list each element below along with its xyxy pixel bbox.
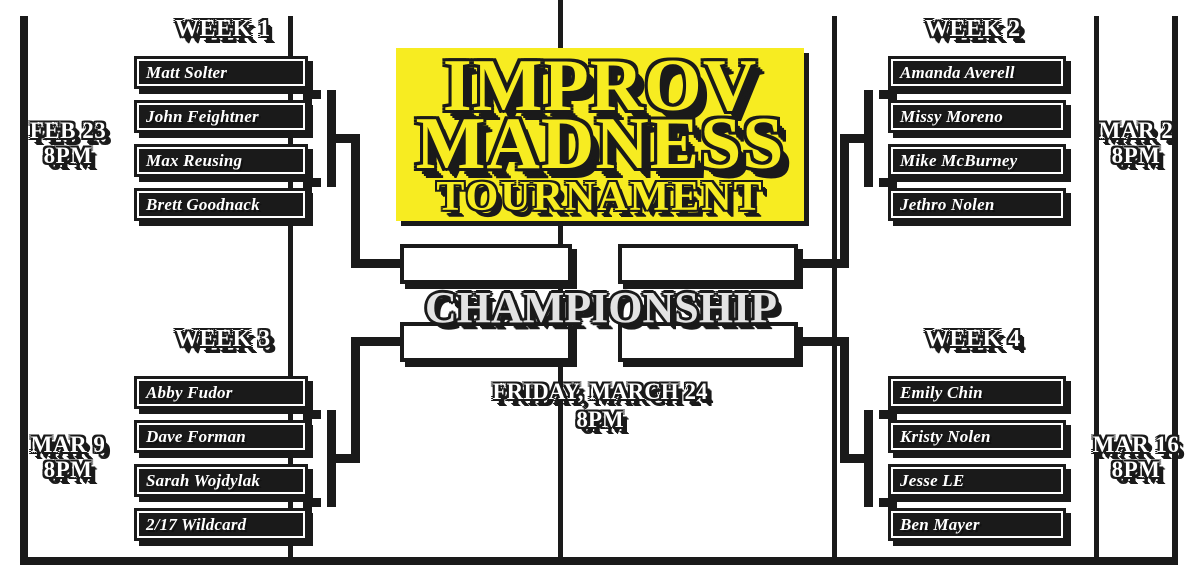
competitor-slot[interactable]: John Feightner <box>134 100 308 133</box>
competitor-slot[interactable]: Max Reusing <box>134 144 308 177</box>
competitor-name: Amanda Averell <box>900 63 1015 83</box>
competitor-slot[interactable]: Emily Chin <box>888 376 1066 409</box>
date-line-1: MAR 16 <box>1086 432 1186 457</box>
plate-inner: Mike McBurney <box>891 147 1063 174</box>
championship-date-line-2: 8PM <box>390 406 810 434</box>
competitor-slot[interactable]: Sarah Wojdylak <box>134 464 308 497</box>
date-label-feb23: FEB 23 8PM <box>18 118 118 168</box>
competitor-slot[interactable]: Matt Solter <box>134 56 308 89</box>
competitor-name: Mike McBurney <box>900 151 1017 171</box>
date-label-mar16: MAR 16 8PM <box>1086 432 1186 482</box>
plate-inner: Missy Moreno <box>891 103 1063 130</box>
competitor-name: John Feightner <box>146 107 259 127</box>
plate-inner: Emily Chin <box>891 379 1063 406</box>
semifinal-slot-top-right[interactable] <box>618 244 798 284</box>
competitor-slot[interactable]: Missy Moreno <box>888 100 1066 133</box>
competitor-name: Kristy Nolen <box>900 427 991 447</box>
poster-title-block: IMPROV MADNESS TOURNAMENT <box>396 48 804 221</box>
plate-inner: Jethro Nolen <box>891 191 1063 218</box>
competitor-name: Brett Goodnack <box>146 195 260 215</box>
slot-inner <box>404 248 568 280</box>
championship-date: FRIDAY, MARCH 24 8PM <box>390 378 810 434</box>
plate-inner: Max Reusing <box>137 147 305 174</box>
week-header-week1: WEEK 1 <box>175 16 271 43</box>
championship-label: CHAMPIONSHIP <box>396 282 806 333</box>
plate-inner: Brett Goodnack <box>137 191 305 218</box>
title-line-tournament: TOURNAMENT <box>396 173 804 221</box>
competitor-slot[interactable]: Mike McBurney <box>888 144 1066 177</box>
date-label-mar2: MAR 2 8PM <box>1086 118 1186 168</box>
competitor-slot[interactable]: Brett Goodnack <box>134 188 308 221</box>
competitor-slot[interactable]: Amanda Averell <box>888 56 1066 89</box>
plate-inner: Jesse LE <box>891 467 1063 494</box>
competitor-name: Emily Chin <box>900 383 983 403</box>
plate-inner: Matt Solter <box>137 59 305 86</box>
date-line-1: FEB 23 <box>18 118 118 143</box>
plate-inner: Ben Mayer <box>891 511 1063 538</box>
date-line-2: 8PM <box>18 143 118 168</box>
competitor-name: Matt Solter <box>146 63 227 83</box>
week-header-week4: WEEK 4 <box>925 326 1021 353</box>
plate-inner: Sarah Wojdylak <box>137 467 305 494</box>
date-line-2: 8PM <box>18 457 118 482</box>
date-line-1: MAR 2 <box>1086 118 1186 143</box>
plate-inner: Dave Forman <box>137 423 305 450</box>
competitor-name: Sarah Wojdylak <box>146 471 260 491</box>
date-line-2: 8PM <box>1086 143 1186 168</box>
week-header-week3: WEEK 3 <box>175 326 271 353</box>
date-label-mar9: MAR 9 8PM <box>18 432 118 482</box>
week-header-week2: WEEK 2 <box>925 16 1021 43</box>
competitor-slot[interactable]: Jesse LE <box>888 464 1066 497</box>
championship-date-line-1: FRIDAY, MARCH 24 <box>390 378 810 406</box>
competitor-name: Jethro Nolen <box>900 195 995 215</box>
date-line-1: MAR 9 <box>18 432 118 457</box>
competitor-slot[interactable]: Jethro Nolen <box>888 188 1066 221</box>
date-line-2: 8PM <box>1086 457 1186 482</box>
competitor-slot[interactable]: Ben Mayer <box>888 508 1066 541</box>
semifinal-slot-top-left[interactable] <box>400 244 572 284</box>
competitor-slot[interactable]: 2/17 Wildcard <box>134 508 308 541</box>
competitor-name: Missy Moreno <box>900 107 1003 127</box>
competitor-slot[interactable]: Abby Fudor <box>134 376 308 409</box>
competitor-name: Dave Forman <box>146 427 246 447</box>
competitor-name: Max Reusing <box>146 151 242 171</box>
slot-inner <box>622 248 794 280</box>
competitor-slot[interactable]: Kristy Nolen <box>888 420 1066 453</box>
plate-inner: John Feightner <box>137 103 305 130</box>
plate-inner: 2/17 Wildcard <box>137 511 305 538</box>
bracket-poster: IMPROV MADNESS TOURNAMENT WEEK 1 WEEK 2 … <box>0 0 1200 580</box>
competitor-name: 2/17 Wildcard <box>146 515 246 535</box>
plate-inner: Amanda Averell <box>891 59 1063 86</box>
competitor-name: Abby Fudor <box>146 383 233 403</box>
competitor-slot[interactable]: Dave Forman <box>134 420 308 453</box>
plate-inner: Abby Fudor <box>137 379 305 406</box>
plate-inner: Kristy Nolen <box>891 423 1063 450</box>
competitor-name: Ben Mayer <box>900 515 980 535</box>
competitor-name: Jesse LE <box>900 471 964 491</box>
